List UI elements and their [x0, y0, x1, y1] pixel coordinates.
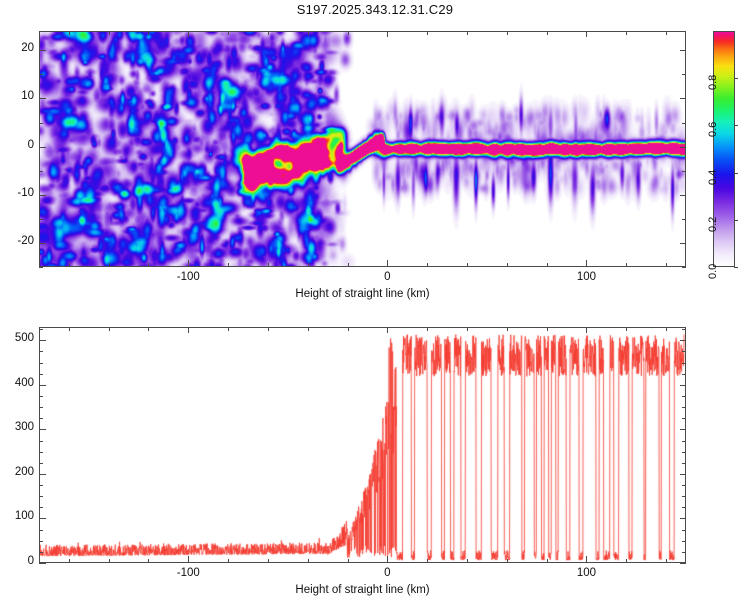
x-tick-label: 0 — [357, 271, 417, 283]
x-major-tick-top — [188, 327, 189, 333]
y-minor-tick — [39, 219, 43, 220]
x-minor-tick-top — [268, 327, 269, 331]
x-minor-tick — [666, 559, 667, 563]
x-minor-tick — [547, 559, 548, 563]
colorbar-tick-mark — [734, 220, 738, 221]
x-tick-label: 100 — [556, 567, 616, 579]
x-minor-tick — [69, 559, 70, 563]
y-major-tick-right — [680, 563, 686, 564]
y-major-tick-right — [680, 385, 686, 386]
x-tick-label: 0 — [357, 567, 417, 579]
x-minor-tick — [507, 559, 508, 563]
x-minor-tick-top — [348, 327, 349, 331]
y-minor-tick — [39, 485, 43, 486]
x-minor-tick-top — [228, 327, 229, 331]
y-minor-tick — [39, 171, 43, 172]
x-minor-tick-top — [268, 31, 269, 35]
y-minor-tick-right — [682, 463, 686, 464]
x-minor-tick-top — [626, 31, 627, 35]
y-minor-tick-right — [682, 552, 686, 553]
x-minor-tick-top — [666, 327, 667, 331]
colorbar-tick-label: 0.8 — [707, 75, 719, 90]
y-major-tick-right — [680, 50, 686, 51]
y-minor-tick — [39, 530, 43, 531]
colorbar-tick-label: 0.4 — [707, 169, 719, 184]
x-minor-tick-top — [507, 31, 508, 35]
y-minor-tick-right — [682, 219, 686, 220]
y-tick-label: 200 — [0, 466, 34, 478]
y-minor-tick — [39, 541, 43, 542]
y-minor-tick-right — [682, 452, 686, 453]
y-minor-tick — [39, 552, 43, 553]
x-minor-tick-top — [626, 327, 627, 331]
y-minor-tick — [39, 374, 43, 375]
x-major-tick — [188, 556, 189, 563]
y-minor-tick — [39, 463, 43, 464]
y-minor-tick-right — [682, 363, 686, 364]
x-major-tick — [387, 260, 388, 267]
x-minor-tick-top — [228, 31, 229, 35]
y-minor-tick-right — [682, 485, 686, 486]
y-tick-label: -20 — [0, 235, 34, 247]
x-minor-tick — [348, 559, 349, 563]
x-major-tick — [586, 260, 587, 267]
y-major-tick — [39, 385, 46, 386]
y-tick-label: 10 — [0, 90, 34, 102]
colorbar-tick-label: 0.0 — [707, 264, 719, 279]
x-minor-tick — [467, 559, 468, 563]
x-major-tick — [387, 556, 388, 563]
y-minor-tick-right — [682, 407, 686, 408]
colorbar-tick-mark — [734, 267, 738, 268]
x-minor-tick-top — [666, 31, 667, 35]
y-minor-tick — [39, 267, 43, 268]
y-tick-label: 20 — [0, 42, 34, 54]
y-tick-label: 300 — [0, 421, 34, 433]
x-tick-label: 100 — [556, 271, 616, 283]
x-minor-tick-top — [148, 327, 149, 331]
y-minor-tick-right — [682, 396, 686, 397]
colorbar-tick-mark — [734, 78, 738, 79]
x-minor-tick — [626, 263, 627, 267]
y-minor-tick — [39, 74, 43, 75]
x-minor-tick — [348, 263, 349, 267]
y-major-tick — [39, 340, 46, 341]
y-major-tick — [39, 563, 46, 564]
y-major-tick — [39, 429, 46, 430]
y-minor-tick — [39, 496, 43, 497]
y-tick-label: 0 — [0, 555, 34, 567]
x-minor-tick-top — [109, 327, 110, 331]
y-minor-tick — [39, 396, 43, 397]
y-minor-tick-right — [682, 74, 686, 75]
x-minor-tick-top — [467, 327, 468, 331]
y-major-tick-right — [680, 340, 686, 341]
x-minor-tick-top — [427, 31, 428, 35]
snr-line-trace — [40, 328, 685, 562]
y-major-tick — [39, 98, 46, 99]
y-minor-tick — [39, 363, 43, 364]
y-minor-tick-right — [682, 496, 686, 497]
x-minor-tick-top — [427, 327, 428, 331]
x-minor-tick-top — [69, 31, 70, 35]
figure-canvas: S197.2025.343.12.31.C29 -1000100-20-1001… — [0, 0, 750, 600]
x-minor-tick — [467, 263, 468, 267]
x-minor-tick — [427, 559, 428, 563]
y-major-tick-right — [680, 195, 686, 196]
y-minor-tick-right — [682, 530, 686, 531]
snr-plot — [39, 327, 686, 563]
y-major-tick-right — [680, 429, 686, 430]
y-tick-label: 500 — [0, 332, 34, 344]
x-minor-tick — [228, 559, 229, 563]
y-major-tick-right — [680, 518, 686, 519]
colorbar-tick-label: 0.6 — [707, 122, 719, 137]
y-minor-tick — [39, 329, 43, 330]
x-minor-tick-top — [148, 31, 149, 35]
x-minor-tick-top — [109, 31, 110, 35]
x-minor-tick-top — [507, 327, 508, 331]
y-tick-label: -10 — [0, 187, 34, 199]
y-minor-tick-right — [682, 123, 686, 124]
y-minor-tick-right — [682, 441, 686, 442]
x-minor-tick — [148, 559, 149, 563]
x-major-tick-top — [387, 31, 388, 37]
y-major-tick — [39, 50, 46, 51]
y-minor-tick — [39, 452, 43, 453]
x-minor-tick — [109, 263, 110, 267]
y-minor-tick — [39, 351, 43, 352]
x-major-tick-top — [188, 31, 189, 37]
x-minor-tick — [547, 263, 548, 267]
y-major-tick — [39, 243, 46, 244]
x-major-tick — [188, 260, 189, 267]
x-minor-tick — [268, 559, 269, 563]
y-minor-tick — [39, 407, 43, 408]
x-minor-tick — [308, 559, 309, 563]
x-minor-tick — [268, 263, 269, 267]
y-tick-label: 0 — [0, 139, 34, 151]
page-title: S197.2025.343.12.31.C29 — [0, 2, 750, 17]
spectrogram-plot — [39, 31, 686, 267]
x-minor-tick-top — [308, 31, 309, 35]
y-minor-tick-right — [682, 267, 686, 268]
x-major-tick — [586, 556, 587, 563]
snr-x-axis-label: Height of straight line (km) — [39, 584, 686, 596]
colorbar-tick-label: 0.2 — [707, 217, 719, 232]
y-minor-tick-right — [682, 351, 686, 352]
y-minor-tick — [39, 123, 43, 124]
x-minor-tick-top — [467, 31, 468, 35]
y-major-tick — [39, 518, 46, 519]
x-major-tick-top — [586, 327, 587, 333]
colorbar-tick-mark — [734, 173, 738, 174]
x-minor-tick — [228, 263, 229, 267]
y-major-tick-right — [680, 243, 686, 244]
y-minor-tick — [39, 507, 43, 508]
y-minor-tick — [39, 418, 43, 419]
y-minor-tick-right — [682, 329, 686, 330]
y-major-tick-right — [680, 147, 686, 148]
x-major-tick-top — [387, 327, 388, 333]
y-tick-label: 100 — [0, 510, 34, 522]
x-tick-label: -100 — [158, 271, 218, 283]
x-minor-tick — [109, 559, 110, 563]
x-major-tick-top — [586, 31, 587, 37]
y-major-tick — [39, 195, 46, 196]
x-minor-tick — [69, 263, 70, 267]
y-major-tick-right — [680, 474, 686, 475]
x-minor-tick-top — [547, 327, 548, 331]
y-major-tick-right — [680, 98, 686, 99]
y-major-tick — [39, 474, 46, 475]
y-minor-tick-right — [682, 171, 686, 172]
x-minor-tick — [666, 263, 667, 267]
x-minor-tick — [626, 559, 627, 563]
x-minor-tick-top — [69, 327, 70, 331]
y-minor-tick-right — [682, 418, 686, 419]
y-minor-tick-right — [682, 374, 686, 375]
x-tick-label: -100 — [158, 567, 218, 579]
y-major-tick — [39, 147, 46, 148]
colorbar-tick-mark — [734, 125, 738, 126]
y-minor-tick-right — [682, 541, 686, 542]
y-minor-tick — [39, 441, 43, 442]
x-minor-tick — [427, 263, 428, 267]
x-minor-tick — [308, 263, 309, 267]
x-minor-tick — [507, 263, 508, 267]
x-minor-tick-top — [308, 327, 309, 331]
y-minor-tick-right — [682, 507, 686, 508]
x-minor-tick — [148, 263, 149, 267]
x-minor-tick-top — [547, 31, 548, 35]
spectrogram-x-axis-label: Height of straight line (km) — [39, 288, 686, 300]
x-minor-tick-top — [348, 31, 349, 35]
y-tick-label: 400 — [0, 377, 34, 389]
spectrogram-image — [40, 32, 685, 266]
